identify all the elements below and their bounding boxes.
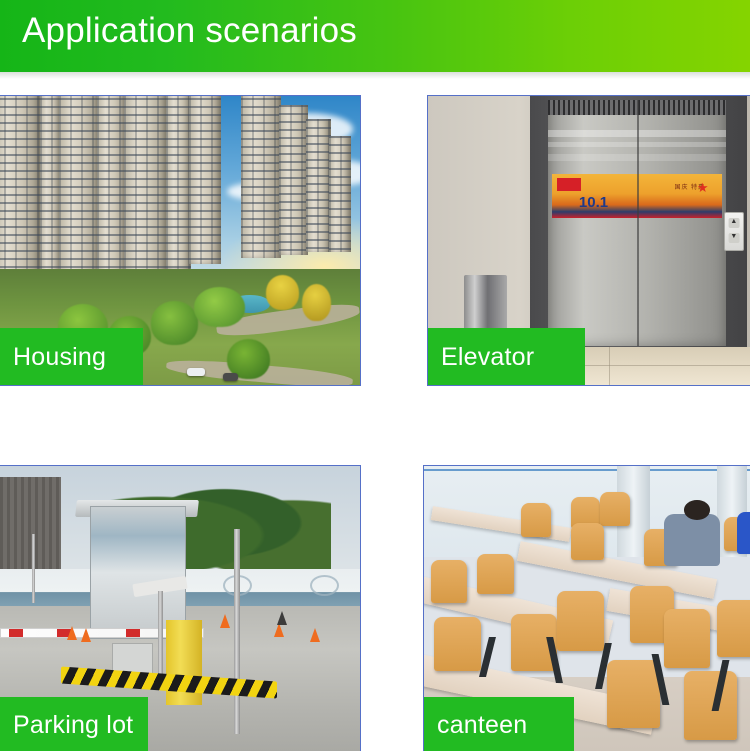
page-title: Application scenarios [22, 11, 357, 51]
light-pole [234, 529, 240, 734]
elevator-up-button[interactable]: ▲ [728, 218, 739, 229]
housing-tower [59, 96, 99, 298]
traffic-cone [310, 628, 320, 642]
housing-tower [97, 96, 126, 287]
caption-elevator: Elevator [427, 328, 585, 386]
housing-tree [194, 287, 244, 327]
traffic-cone [277, 611, 287, 625]
canteen-chair [607, 660, 660, 728]
scenario-card-elevator[interactable]: 国庆 特惠 10.1 ★ ▲ ▼ Elevator [427, 95, 750, 386]
seated-person [737, 512, 750, 555]
scenario-card-canteen[interactable]: canteen [423, 465, 750, 751]
header-shadow-divider [0, 72, 750, 79]
page-header-banner: Application scenarios [0, 0, 750, 72]
caption-housing-label: Housing [13, 343, 106, 372]
housing-tower [241, 96, 281, 258]
traffic-cone [67, 626, 77, 640]
wall-accent-stripe [424, 469, 750, 472]
poster-flag-icon [557, 178, 581, 191]
canteen-chair [717, 600, 750, 657]
seated-person [664, 514, 721, 565]
barrier-stripe [126, 629, 140, 636]
wall-logo-icon [310, 575, 339, 596]
housing-tree [302, 284, 331, 322]
elevator-down-button[interactable]: ▼ [728, 233, 739, 244]
housing-tower [189, 96, 221, 264]
barrier-stripe [9, 629, 23, 636]
traffic-cone [81, 628, 91, 642]
scenario-card-parking-lot[interactable]: Parking lot [0, 465, 361, 751]
canteen-chair [521, 503, 551, 537]
canteen-chair [571, 523, 604, 560]
housing-tower [166, 96, 191, 269]
canteen-chair [477, 554, 514, 594]
canteen-chair [431, 560, 468, 603]
poster-headline: 10.1 [579, 194, 608, 211]
caption-elevator-label: Elevator [441, 343, 534, 372]
canteen-chair [600, 492, 630, 526]
canteen-chair [664, 609, 711, 669]
housing-tree [151, 301, 198, 344]
housing-tower [40, 96, 62, 293]
elevator-doors: 国庆 特惠 10.1 ★ [548, 100, 726, 346]
housing-tree [266, 275, 298, 310]
canteen-chair [557, 591, 604, 651]
canteen-chair [434, 617, 481, 671]
housing-tower [124, 96, 167, 281]
housing-tower [306, 119, 331, 252]
elevator-door-seam [637, 100, 639, 346]
housing-car [223, 373, 237, 381]
housing-tower [279, 105, 308, 255]
elevator-call-panel[interactable]: ▲ ▼ [724, 212, 744, 252]
traffic-cone [220, 614, 230, 628]
caption-parking-lot-label: Parking lot [13, 711, 133, 740]
caption-housing: Housing [0, 328, 143, 386]
canteen-chair [684, 671, 737, 739]
caption-canteen-label: canteen [437, 711, 527, 740]
parking-background-building [0, 477, 61, 574]
housing-car [187, 368, 205, 377]
housing-tower [329, 136, 351, 252]
application-scenarios-page: Application scenarios [0, 0, 750, 750]
scenario-card-housing[interactable]: Housing [0, 95, 361, 386]
poster-star-icon: ★ [697, 180, 709, 196]
light-pole [32, 534, 35, 602]
caption-canteen: canteen [423, 697, 574, 751]
caption-parking-lot: Parking lot [0, 697, 148, 751]
